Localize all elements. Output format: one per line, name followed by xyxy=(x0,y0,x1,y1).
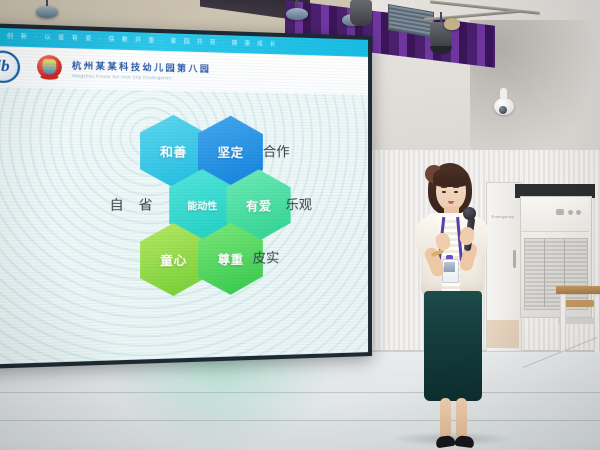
ac-grille-divider xyxy=(544,239,545,307)
eyebrow xyxy=(453,186,459,188)
jb-logo-icon: jb xyxy=(0,50,20,83)
microphone-icon[interactable] xyxy=(463,207,476,220)
table-leg xyxy=(560,294,566,354)
slide-canvas: 守 正 创 新 · 以 爱 育 爱 · 保 教 并 重 · 家 园 共 育 · … xyxy=(0,27,368,365)
side-label-hezuo: 合作 xyxy=(263,141,290,161)
school-name-cn: 杭州某某科技幼儿园第八园 xyxy=(72,59,211,75)
leg-right xyxy=(456,398,467,440)
badge-photo xyxy=(444,262,455,272)
presenter xyxy=(398,155,513,450)
shoe-left xyxy=(435,435,455,449)
side-label-pishi: 皮实 xyxy=(253,247,280,267)
spotlight-yoke xyxy=(444,18,460,30)
side-label-zixing: 自 省 xyxy=(109,194,158,214)
ceiling-lamp xyxy=(36,6,58,18)
side-label-leguan: 乐观 xyxy=(286,194,312,213)
stage-spotlight xyxy=(350,0,372,26)
ac-indicator-icon xyxy=(568,210,573,215)
skirt xyxy=(424,291,482,401)
ac-indicator-icon xyxy=(576,210,581,215)
door-handle[interactable] xyxy=(513,250,516,268)
photo-scene: Emergency 守 正 创 新 · 以 爱 育 爱 · 保 教 并 重 · … xyxy=(0,0,600,450)
floor-screen-reflection xyxy=(110,356,330,450)
crest-emblem-icon xyxy=(43,59,56,74)
wooden-table xyxy=(556,286,600,294)
school-name-block: 杭州某某科技幼儿园第八园 Hangzhou Future Sci-tech Ci… xyxy=(72,59,211,81)
school-crest-icon xyxy=(36,54,63,82)
eye xyxy=(442,191,446,193)
camera-lens-icon xyxy=(499,106,507,114)
ac-display-icon xyxy=(556,209,564,215)
table-leg xyxy=(594,294,600,354)
eyebrow xyxy=(441,186,447,188)
eye xyxy=(454,191,458,193)
hair-fringe xyxy=(433,167,469,187)
crest-base-icon xyxy=(40,74,58,80)
shoe-right xyxy=(454,435,474,448)
leg-left xyxy=(440,398,451,440)
ceiling-lamp xyxy=(286,8,308,20)
school-name-en: Hangzhou Future Sci-tech City Kindergart… xyxy=(72,74,211,81)
led-screen[interactable]: 守 正 创 新 · 以 爱 育 爱 · 保 教 并 重 · 家 园 共 育 · … xyxy=(0,23,372,370)
hexagon-diagram: 和善 坚定 能动性 有爱 童心 尊重 合作 自 省 乐观 皮实 xyxy=(0,92,368,363)
